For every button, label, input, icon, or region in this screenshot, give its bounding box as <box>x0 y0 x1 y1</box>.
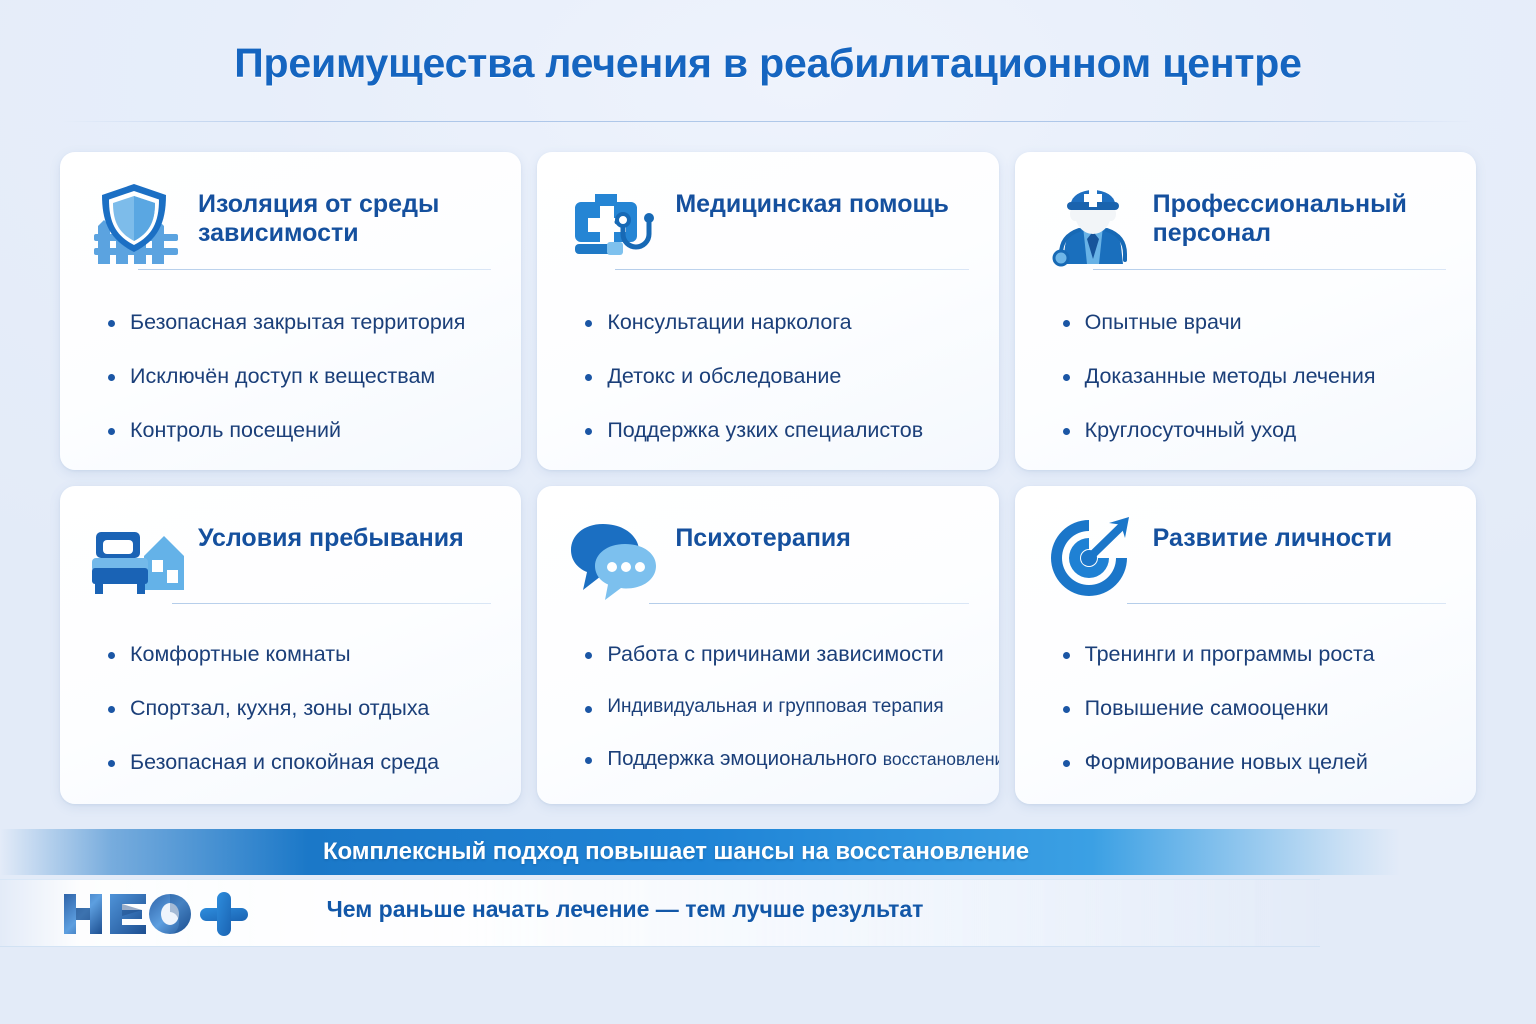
list-item: Поддержка узких специалистов <box>585 418 968 444</box>
card-title: Психотерапия <box>675 512 968 553</box>
benefit-card-isolation[interactable]: Изоляция от среды зависимости Безопасная… <box>60 152 521 470</box>
list-item: Работа с причинами зависимости <box>585 642 968 668</box>
card-bullet-list: Тренинги и программы роста Повышение сам… <box>1045 608 1446 775</box>
card-header: Психотерапия <box>567 512 968 608</box>
shield-fence-icon <box>90 178 186 274</box>
list-item: Индивидуальная и групповая терапия <box>585 696 968 719</box>
footer-banner: Комплексный подход повышает шансы на вос… <box>0 829 1400 875</box>
card-header: Условия пребывания <box>90 512 491 608</box>
title-zone: Преимущества лечения в реабилитационном … <box>0 0 1536 124</box>
card-bullet-list: Безопасная закрытая территория Исключён … <box>90 274 491 443</box>
list-item: Круглосуточный уход <box>1063 418 1446 444</box>
list-item: Безопасная и спокойная среда <box>108 750 491 776</box>
card-header: Развитие личности <box>1045 512 1446 608</box>
list-item-tail: восстановления <box>883 749 999 769</box>
card-bullet-list: Комфортные комнаты Спортзал, кухня, зоны… <box>90 608 491 775</box>
speech-bubbles-icon <box>567 512 663 608</box>
list-item: Безопасная закрытая территория <box>108 310 491 336</box>
benefits-grid: Изоляция от среды зависимости Безопасная… <box>60 152 1476 804</box>
card-title: Условия пребывания <box>198 512 491 553</box>
list-item: Детокс и обследование <box>585 364 968 390</box>
medical-bag-stethoscope-icon <box>567 178 663 274</box>
infographic-root: Преимущества лечения в реабилитационном … <box>0 0 1536 1024</box>
doctor-icon <box>1045 178 1141 274</box>
card-bullet-list: Консультации нарколога Детокс и обследов… <box>567 274 968 443</box>
card-title: Медицинская помощь <box>675 178 968 219</box>
list-item: Тренинги и программы роста <box>1063 642 1446 668</box>
card-bullet-list: Работа с причинами зависимости Индивидуа… <box>567 608 968 771</box>
footer-banner-text: Комплексный подход повышает шансы на вос… <box>323 838 1029 866</box>
page-title: Преимущества лечения в реабилитационном … <box>0 40 1536 87</box>
footer-tagline: Чем раньше начать лечение — тем лучше ре… <box>0 896 1290 923</box>
list-item: Доказанные методы лечения <box>1063 364 1446 390</box>
target-arrow-icon <box>1045 512 1141 608</box>
card-title: Изоляция от среды зависимости <box>198 178 491 248</box>
card-title: Развитие личности <box>1153 512 1446 553</box>
card-title-divider <box>1127 603 1446 604</box>
card-title-divider <box>615 269 968 270</box>
list-item: Комфортные комнаты <box>108 642 491 668</box>
card-bullet-list: Опытные врачи Доказанные методы лечения … <box>1045 274 1446 443</box>
card-title-divider <box>138 269 491 270</box>
card-title-divider <box>649 603 968 604</box>
list-item: Консультации нарколога <box>585 310 968 336</box>
card-header: Профессиональный персонал <box>1045 178 1446 274</box>
list-item-text: Поддержка эмоционального <box>607 747 882 770</box>
benefit-card-living-conditions[interactable]: Условия пребывания Комфортные комнаты Сп… <box>60 486 521 804</box>
bed-house-icon <box>90 512 186 608</box>
list-item: Поддержка эмоционального восстановления <box>585 747 968 772</box>
benefit-card-medical-help[interactable]: Медицинская помощь Консультации нарколог… <box>537 152 998 470</box>
benefit-card-personal-growth[interactable]: Развитие личности Тренинги и программы р… <box>1015 486 1476 804</box>
card-header: Медицинская помощь <box>567 178 968 274</box>
card-title: Профессиональный персонал <box>1153 178 1446 248</box>
list-item: Формирование новых целей <box>1063 750 1446 776</box>
card-title-divider <box>172 603 491 604</box>
benefit-card-psychotherapy[interactable]: Психотерапия Работа с причинами зависимо… <box>537 486 998 804</box>
list-item: Повышение самооценки <box>1063 696 1446 722</box>
title-divider <box>62 121 1474 122</box>
list-item: Контроль посещений <box>108 418 491 444</box>
benefit-card-professional-staff[interactable]: Профессиональный персонал Опытные врачи … <box>1015 152 1476 470</box>
card-title-divider <box>1093 269 1446 270</box>
list-item: Исключён доступ к веществам <box>108 364 491 390</box>
card-header: Изоляция от среды зависимости <box>90 178 491 274</box>
list-item: Спортзал, кухня, зоны отдыха <box>108 696 491 722</box>
list-item: Опытные врачи <box>1063 310 1446 336</box>
